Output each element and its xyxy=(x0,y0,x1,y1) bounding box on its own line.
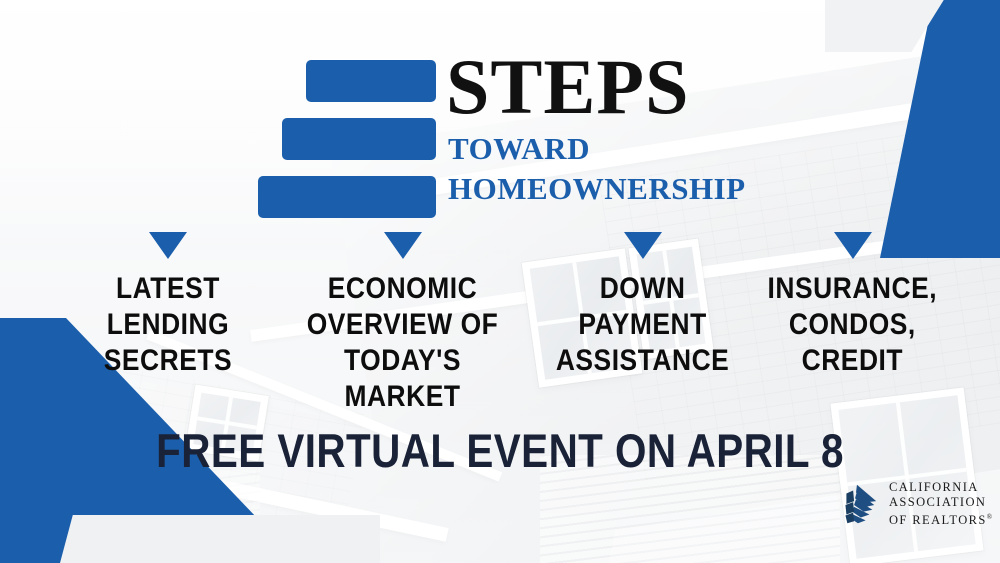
feature-column-insurance: INSURANCE, CONDOS, CREDIT xyxy=(765,232,940,379)
feature-label: LATEST LENDING SECRETS xyxy=(103,271,231,379)
feature-label: DOWN PAYMENT ASSISTANCE xyxy=(556,271,729,379)
feature-column-lending: LATEST LENDING SECRETS xyxy=(80,232,255,379)
triangle-down-icon xyxy=(834,232,872,259)
feature-column-economic: ECONOMIC OVERVIEW OF TODAY'S MARKET xyxy=(285,232,520,415)
stair-bar-middle xyxy=(282,118,436,160)
feature-column-down-payment: DOWN PAYMENT ASSISTANCE xyxy=(550,232,735,379)
california-association-of-realtors-logo: CALIFORNIA ASSOCIATION OF REALTORS® xyxy=(832,480,993,528)
feature-columns: LATEST LENDING SECRETS ECONOMIC OVERVIEW… xyxy=(80,232,940,415)
car-diamond-emblem-icon xyxy=(832,480,880,528)
logo-title: STEPS xyxy=(446,48,766,126)
stair-bar-top xyxy=(306,60,436,102)
stairs-bars-icon xyxy=(258,56,438,204)
registered-trademark-icon: ® xyxy=(987,513,994,521)
triangle-down-icon xyxy=(624,232,662,259)
logo-text-block: STEPS TOWARD HOMEOWNERSHIP xyxy=(446,48,766,206)
feature-label: ECONOMIC OVERVIEW OF TODAY'S MARKET xyxy=(299,271,506,415)
car-line-3-wrap: OF REALTORS® xyxy=(889,510,993,528)
feature-label: INSURANCE, CONDOS, CREDIT xyxy=(768,271,938,379)
stair-bar-bottom xyxy=(258,176,436,218)
car-line-3: OF REALTORS xyxy=(889,513,987,527)
logo-subtitle-line2: HOMEOWNERSHIP xyxy=(448,172,766,206)
light-panel-bottom xyxy=(60,515,380,563)
car-logo-text: CALIFORNIA ASSOCIATION OF REALTORS® xyxy=(889,480,993,528)
promo-poster: STEPS TOWARD HOMEOWNERSHIP LATEST LENDIN… xyxy=(0,0,1000,563)
car-line-1: CALIFORNIA xyxy=(889,480,993,495)
steps-logo: STEPS TOWARD HOMEOWNERSHIP xyxy=(258,48,758,208)
triangle-down-icon xyxy=(384,232,422,259)
event-headline: FREE VIRTUAL EVENT ON APRIL 8 xyxy=(70,425,930,477)
logo-subtitle-line1: TOWARD xyxy=(448,132,766,166)
car-line-2: ASSOCIATION xyxy=(889,495,993,510)
triangle-down-icon xyxy=(149,232,187,259)
